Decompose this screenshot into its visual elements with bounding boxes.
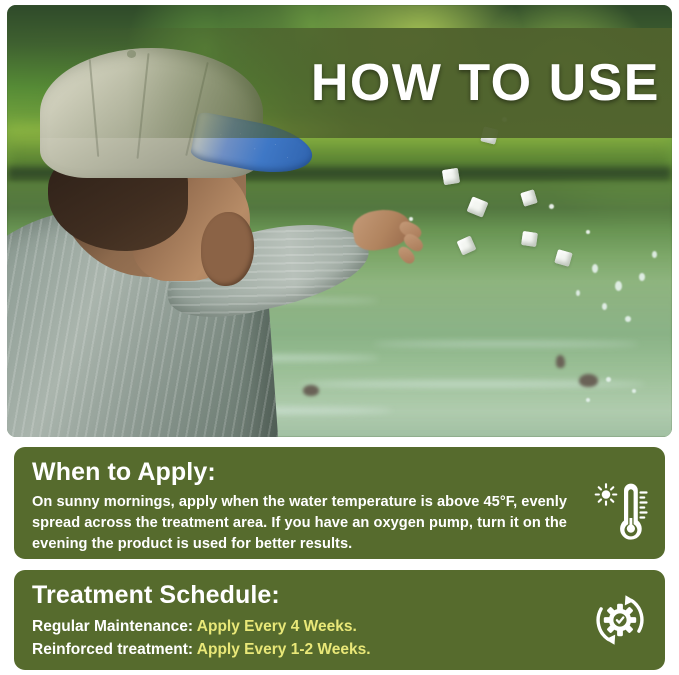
page-title: HOW TO USE bbox=[311, 57, 660, 109]
water-splash bbox=[576, 290, 580, 296]
water-splash bbox=[586, 398, 590, 402]
panel-when-to-apply: When to Apply: On sunny mornings, apply … bbox=[14, 447, 665, 559]
duck bbox=[579, 374, 598, 387]
thermometer-sun-icon bbox=[593, 481, 649, 543]
schedule-row-label: Reinforced treatment: bbox=[32, 641, 193, 658]
gear-cycle-check-icon bbox=[591, 591, 649, 649]
water-droplet bbox=[586, 230, 590, 234]
water-splash bbox=[606, 377, 611, 382]
water-droplet bbox=[549, 204, 554, 209]
product-pellet bbox=[521, 231, 538, 247]
schedule-row-value: Apply Every 4 Weeks. bbox=[197, 618, 357, 635]
treatment-schedule-heading: Treatment Schedule: bbox=[32, 582, 647, 610]
when-to-apply-heading: When to Apply: bbox=[32, 459, 647, 487]
schedule-row: Regular Maintenance: Apply Every 4 Weeks… bbox=[32, 615, 647, 638]
product-pellet bbox=[441, 168, 459, 185]
infographic-page: HOW TO USE When to Apply: On sunny morni… bbox=[0, 0, 679, 675]
duck bbox=[556, 355, 565, 368]
schedule-row-value: Apply Every 1-2 Weeks. bbox=[197, 641, 371, 658]
water-splash bbox=[639, 273, 645, 281]
panel-treatment-schedule: Treatment Schedule: Regular Maintenance:… bbox=[14, 570, 665, 670]
when-to-apply-body: On sunny mornings, apply when the water … bbox=[32, 492, 592, 556]
schedule-row: Reinforced treatment: Apply Every 1-2 We… bbox=[32, 638, 647, 661]
header-band: HOW TO USE bbox=[7, 28, 672, 138]
schedule-row-label: Regular Maintenance: bbox=[32, 618, 193, 635]
hero-photo: HOW TO USE bbox=[7, 5, 672, 437]
